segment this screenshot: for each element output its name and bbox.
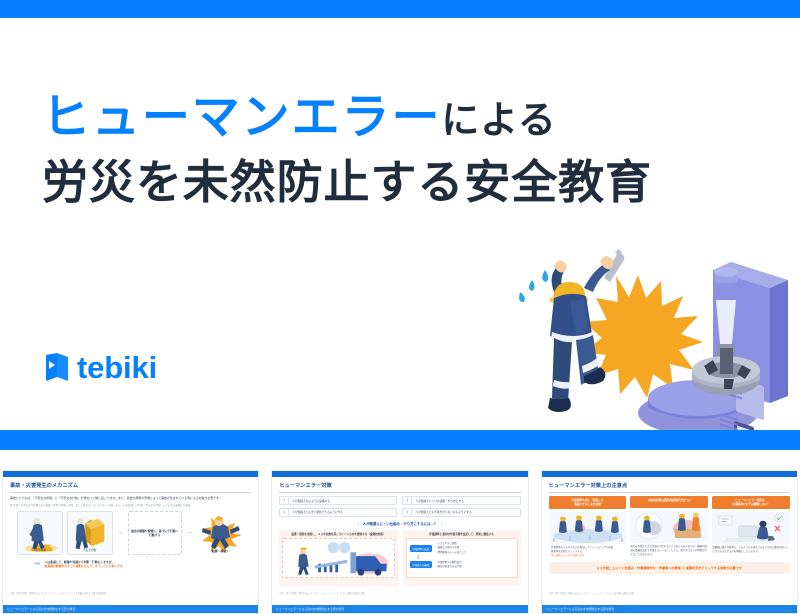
thumb3-column-3: ヒューマンエラー対策は、 注意喚起だけでは機能しない！ — [712, 496, 790, 558]
thumb1-bottom-callout: ➡ 人は意識して、経験や知識から判断・行動もしますが、 無意識の経験がかえって油… — [10, 560, 251, 569]
thumb1-card1-caption: 不安全状態 — [18, 548, 62, 552]
thumbnail-slide-3[interactable]: ヒューマンエラー対策上の注意点 作業標準も常に「更新」を 意識させる工夫が必要 — [541, 470, 798, 614]
thumb3-col2-head: 本質的対策は費用対効果が見合うか — [630, 496, 708, 508]
thumb2-measure-text: 人が間違えても不具合が少なくなるようにする — [412, 509, 519, 516]
thumb3-column-1: 作業標準も常に「更新」を 意識させる工夫が必要 — [549, 496, 627, 558]
thumb1-card2-caption: 不安全行動 — [68, 548, 112, 552]
thumb3-col1-bullets: ・作業標準はミスが少ない仕組みにブラッシュアップが必要 ・更新時を定期でチェック… — [549, 546, 627, 558]
thumb1-note: 例 えばこの不安全な状態である設備（不具合状態）の時、正しく扱えなくなっていた人… — [10, 504, 251, 508]
page-title: ヒューマンエラーによる 労災を未然防止する安全教育 — [42, 88, 682, 211]
thumb1-arrow-2-icon: → — [186, 529, 193, 536]
thumb2-panel-right: 作業標準と適切な作業手順を設定して、周知し徹底する 作業標準の改善 ・ミスしやす… — [403, 530, 521, 586]
production-line-illustration — [549, 512, 627, 544]
thumb3-col3-bullets: 設備側に頼る作業等も、どのような注意をどのような形で徹底を防ぐことができるかどう… — [712, 546, 790, 554]
thumb3-col1-head: 作業標準も常に「更新」を 意識させる工夫が必要 — [549, 496, 627, 509]
slide-thumbnail-strip: 事故・災害発生のメカニズム 事故というのは、「不安全な状態」と「不安全な行動」が… — [0, 470, 800, 614]
thumbnail-slide-2[interactable]: ヒューマンエラー対策 1 人が間違えないように設備する 2 人が間違えにくいか設… — [271, 470, 528, 614]
office-desk-worker-illustration — [712, 512, 790, 544]
thumb1-card-unsafe-state: 不安全状態 — [17, 511, 63, 555]
tebiki-wordmark: tebiki — [77, 352, 157, 383]
thumb2-measure-num: 4 — [403, 509, 412, 516]
tebiki-book-play-icon — [44, 353, 70, 383]
thumb1-card-unsafe-action: 不安全行動 — [67, 511, 113, 555]
thumb1-footer-text: ヒューマンエラーによる労災を未然防止する安全教育 — [7, 607, 75, 611]
thumb1-footer-bar: ヒューマンエラーによる労災を未然防止する安全教育 — [3, 605, 258, 613]
thumb3-banner: ミスを起こしにくい仕組み・作業標準作り・作業者への教育 ＋ 実際状況をチェックす… — [549, 562, 790, 574]
thumb1-arrow-1-icon: → — [117, 529, 124, 536]
thumb1-end-caption: 転倒（事故） — [197, 549, 245, 553]
thumb2-measure-text: 人が間違えにくいか設備・やり方にする — [412, 497, 519, 504]
thumb2-middle-text: ↓ 人が間違えにくい仕組み・やり方にするには…？ ↓ — [279, 521, 520, 526]
thumb2-title: ヒューマンエラー対策 — [279, 482, 520, 493]
thumb2-panel-right-diagram: 作業標準の改善 ・ミスしやすい箇所 ・複雑な点検する手順 ・標準動線のルール化と… — [406, 538, 518, 578]
thumb2-chip-1: 作業標準の改善 — [410, 545, 433, 552]
thumb2-measure-row: 3 人が間違えてもすぐ発見できるようにする — [279, 508, 397, 517]
thumbnail-slide-1[interactable]: 事故・災害発生のメカニズム 事故というのは、「不安全な状態」と「不安全な行動」が… — [2, 470, 259, 614]
thumb3-col3-bullet-1: 設備側に頼る作業等も、どのような注意をどのような形で徹底を防ぐことができるかどう… — [712, 546, 790, 554]
hero-slide: ヒューマンエラーによる 労災を未然防止する安全教育 tebiki — [0, 0, 800, 462]
thumb2-bullets-1: ・ミスしやすい箇所 ・複雑な点検する手順 ・標準動線のルール化として — [435, 542, 466, 554]
thumb2-measure-row: 4 人が間違えても不具合が少なくなるようにする — [402, 508, 520, 517]
thumb2-measure-text: 人が間違えてもすぐ発見できるようにする — [289, 509, 396, 516]
thumb2-measure-num: 2 — [403, 497, 412, 504]
thumb3-footer-bar: ヒューマンエラーによる労災を未然防止する安全教育 — [542, 605, 797, 613]
thumb2-panel-left-diagram — [282, 538, 394, 578]
hero-top-accent-bar — [0, 0, 800, 18]
thumb2-measure-num: 3 — [280, 509, 289, 516]
thumb2-panel-left-title: 設備・環境を改善し、 ミスや失敗を起こりにくいものを排除する（設備的対策） — [282, 533, 394, 537]
thumb1-callout-arrow-icon: ➡ — [34, 560, 41, 568]
title-suffix-text: による — [441, 100, 556, 142]
thumb3-col1-bullet-3: ・常に更新しといかが必要である — [549, 554, 627, 558]
thumb2-measure-row: 2 人が間違えにくいか設備・やり方にする — [402, 496, 520, 505]
hero-bottom-accent-bar — [0, 430, 800, 450]
thumb3-credit: 出所：厚生労働省「職場のあんぜんサイト」ヒューマンエラーによる労働災害防止対策 — [549, 591, 634, 595]
thumb1-subtitle: 事故というのは、「不安全な状態」と「不安全な行動」が重なった時に起こります。また… — [10, 496, 251, 500]
thumb3-col3-head: ヒューマンエラー対策は、 注意喚起だけでは機能しない！ — [712, 496, 790, 509]
thumb2-footer-bar: ヒューマンエラーによる労災を未然防止する安全教育 — [272, 605, 527, 613]
worker-machine-accident-illustration — [498, 248, 800, 440]
title-accent-text: ヒューマンエラー — [42, 91, 441, 144]
thumb1-callout-line2: 無意識の経験がかえって油断を生んでしまうことにも多いです。 — [45, 564, 125, 568]
tebiki-logo: tebiki — [44, 352, 157, 383]
thumb1-title: 事故・災害発生のメカニズム — [10, 482, 251, 493]
thumb2-bullets-2: ・作業標準での動作能力 ・確認が必要である手順 — [435, 561, 461, 569]
thumb3-columns: 作業標準も常に「更新」を 意識させる工夫が必要 — [549, 496, 790, 558]
title-second-line: 労災を未然防止する安全教育 — [42, 154, 682, 211]
thumb2-measure-text: 人が間違えないように設備する — [289, 497, 396, 504]
thumb2-chip-2: 作業者への教育 — [410, 561, 433, 568]
machine-safety-illustration — [630, 511, 708, 543]
thumb1-flow-diagram: 不安全状態 不安全行動 → — [10, 511, 251, 555]
thumb2-footer-text: ヒューマンエラーによる労災を未然防止する安全教育 — [276, 607, 344, 611]
thumb3-col2-bullets: 誰でも作業ができる仕組みが作れるという良さもありますが、機器や環境の整備は設定で… — [630, 545, 708, 557]
thumb3-column-2: 本質的対策は費用対効果が見合うか — [630, 496, 708, 558]
slide-preview-page: ヒューマンエラーによる 労災を未然防止する安全教育 tebiki — [0, 0, 800, 614]
thumb2-measure-num: 1 — [280, 497, 289, 504]
thumb3-col2-bullet-1: 誰でも作業ができる仕組みが作れるという良さもありますが、機器や環境の整備は設定で… — [630, 545, 708, 557]
thumb1-credit: 出所：厚生労働省「職場のあんぜんサイト」ヒューマンエラーによる労働災害防止対策の… — [10, 591, 106, 595]
thumb2-panel-left: 設備・環境を改善し、 ミスや失敗を起こりにくいものを排除する（設備的対策） — [279, 530, 397, 586]
thumb2-panels: 設備・環境を改善し、 ミスや失敗を起こりにくいものを排除する（設備的対策） — [279, 530, 520, 586]
thumb2-panel-right-title: 作業標準と適切な作業手順を設定して、周知し徹底する — [406, 533, 518, 537]
thumb2-measure-row: 1 人が間違えないように設備する — [279, 496, 397, 505]
thumb1-middle-text: 過去の経験や習慣に、基づいて行動＝行動する — [128, 511, 182, 555]
thumb2-measures-grid: 1 人が間違えないように設備する 2 人が間違えにくいか設備・やり方にする 3 … — [279, 496, 520, 517]
thumb1-card-accident: 転倒（事故） — [197, 511, 245, 555]
forklift-sensor-illustration — [283, 539, 393, 577]
thumb3-footer-text: ヒューマンエラーによる労災を未然防止する安全教育 — [546, 607, 614, 611]
thumb3-title: ヒューマンエラー対策上の注意点 — [549, 482, 790, 493]
thumb2-credit: 出所：厚生労働省「職場のあんぜんサイト」ヒューマンエラーによる労働災害防止対策 — [279, 591, 364, 595]
